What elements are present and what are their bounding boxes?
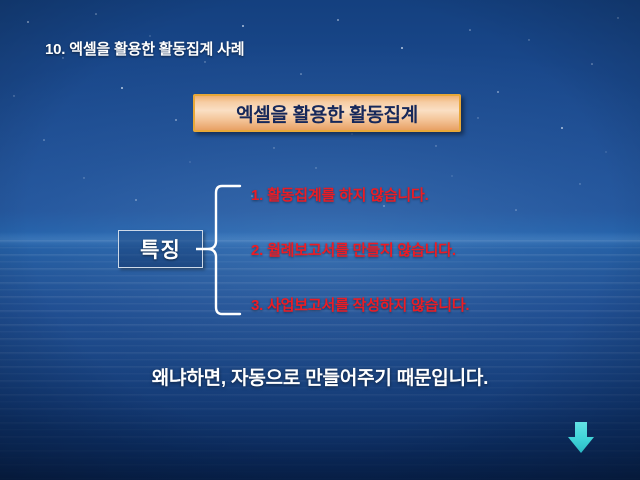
slide-canvas: 10. 엑셀을 활용한 활동집계 사례 엑셀을 활용한 활동집계 특징 1. 활…	[0, 0, 640, 480]
water-texture	[0, 240, 640, 480]
conclusion-text: 왜냐하면, 자동으로 만들어주기 때문입니다.	[0, 363, 640, 390]
list-item: 1. 활동집계를 하지 않습니다.	[251, 184, 429, 205]
feature-label-text: 특징	[140, 234, 181, 264]
list-item: 2. 월례보고서를 만들지 않습니다.	[251, 239, 456, 260]
title-plaque: 엑셀을 활용한 활동집계	[193, 94, 461, 132]
slide-heading: 10. 엑셀을 활용한 활동집계 사례	[45, 38, 244, 59]
list-item: 3. 사업보고서를 작성하지 않습니다.	[251, 294, 469, 315]
arrow-down-icon[interactable]	[566, 420, 596, 458]
title-plaque-text: 엑셀을 활용한 활동집계	[236, 100, 418, 127]
feature-label-box: 특징	[118, 230, 203, 268]
